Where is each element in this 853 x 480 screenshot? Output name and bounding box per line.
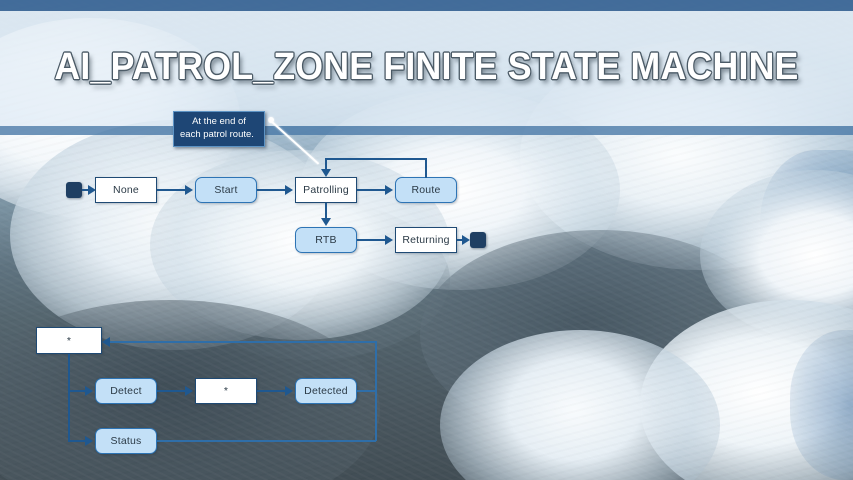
state-node-start[interactable]: Start	[195, 177, 257, 203]
edge-wildcardmid-detected	[257, 390, 287, 392]
node-label: Start	[214, 184, 237, 196]
state-node-none[interactable]: None	[95, 177, 157, 203]
node-label: None	[113, 184, 139, 196]
edge-rtb-returning	[357, 239, 387, 241]
node-label: Returning	[402, 234, 449, 246]
state-node-detect[interactable]: Detect	[95, 378, 157, 404]
state-node-status[interactable]: Status	[95, 428, 157, 454]
edge-return-rail-vertical	[375, 341, 377, 441]
edge-route-patrolling-seg-v	[425, 158, 427, 178]
node-label: Detect	[110, 385, 142, 397]
edge-status-rail	[157, 440, 376, 442]
arrowhead-icon	[385, 235, 393, 245]
state-node-wildcard-mid[interactable]: *	[195, 378, 257, 404]
arrowhead-icon	[285, 185, 293, 195]
node-label: Route	[411, 184, 440, 196]
arrowhead-icon	[85, 386, 93, 396]
edge-patrolling-rtb	[325, 203, 327, 219]
arrowhead-icon	[462, 235, 470, 245]
state-node-patrolling[interactable]: Patrolling	[295, 177, 357, 203]
node-label: Status	[111, 435, 142, 447]
state-node-rtb[interactable]: RTB	[295, 227, 357, 253]
node-label: Detected	[304, 385, 348, 397]
start-node-marker	[66, 182, 82, 198]
edge-none-start	[157, 189, 187, 191]
arrowhead-icon	[321, 218, 331, 226]
arrowhead-icon	[385, 185, 393, 195]
edge-start-patrolling	[257, 189, 287, 191]
arrowhead-icon	[185, 386, 193, 396]
arrowhead-icon	[185, 185, 193, 195]
edge-patrolling-route	[357, 189, 387, 191]
state-node-returning[interactable]: Returning	[395, 227, 457, 253]
end-node-marker	[470, 232, 486, 248]
arrowhead-icon	[285, 386, 293, 396]
slide-canvas: AI_PATROL_ZONE FINITE STATE MACHINE None…	[0, 0, 853, 480]
node-label: Patrolling	[303, 184, 349, 196]
callout-box: At the end of each patrol route.	[173, 111, 265, 147]
header-top-strip	[0, 0, 853, 11]
edge-detected-rail	[357, 390, 376, 392]
state-node-detected[interactable]: Detected	[295, 378, 357, 404]
edge-return-rail-horizontal	[110, 341, 376, 343]
edge-detect-wildcardmid	[157, 390, 187, 392]
node-label: *	[67, 335, 71, 347]
arrowhead-icon	[321, 169, 331, 177]
state-node-route[interactable]: Route	[395, 177, 457, 203]
arrowhead-icon	[102, 337, 110, 347]
callout-line-1: At the end of	[180, 116, 258, 129]
callout-line-2: each patrol route.	[180, 129, 258, 142]
edge-wildcardtop-spine	[68, 354, 70, 441]
header-bottom-strip	[0, 126, 853, 135]
node-label: RTB	[315, 234, 336, 246]
page-title: AI_PATROL_ZONE FINITE STATE MACHINE	[26, 46, 828, 89]
arrowhead-icon	[85, 436, 93, 446]
state-node-wildcard-top[interactable]: *	[36, 327, 102, 354]
edge-route-patrolling-seg-h	[325, 158, 427, 160]
node-label: *	[224, 385, 228, 397]
